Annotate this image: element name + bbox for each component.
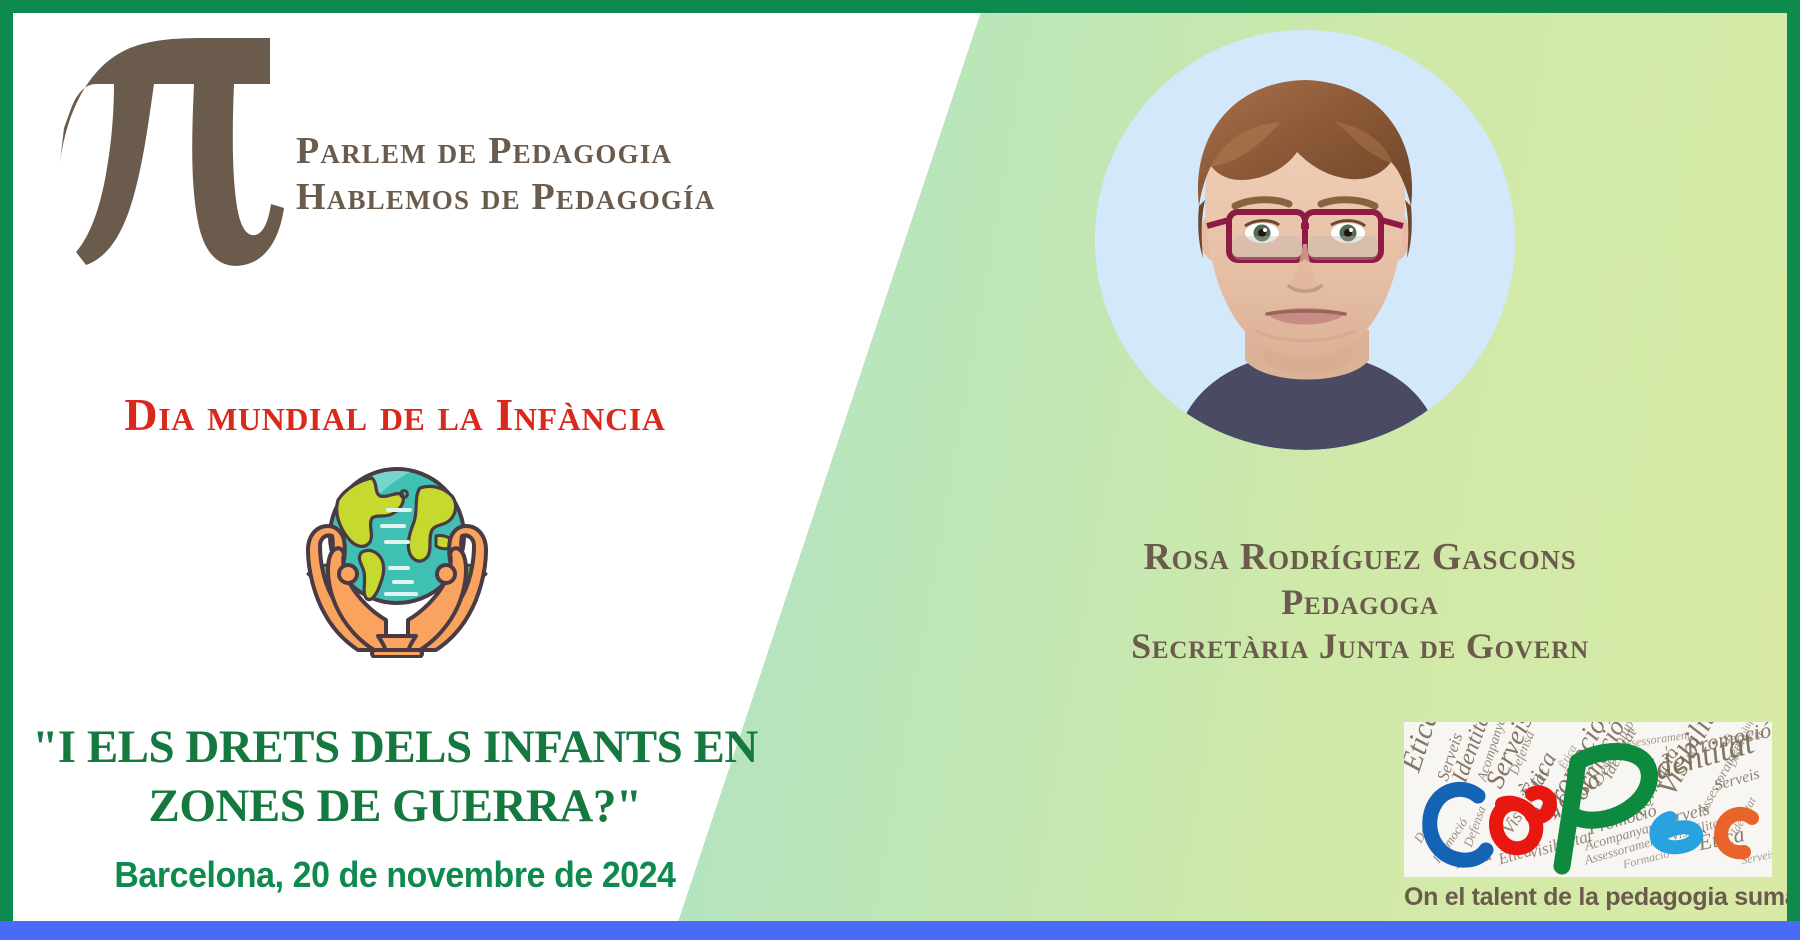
speaker-position: Secretària Junta de Govern: [1010, 625, 1710, 669]
talk-title-line-1: "I ELS DRETS DELS INFANTS EN: [0, 718, 790, 777]
event-poster: Parlem de Pedagogia Hablemos de Pedagogí…: [0, 0, 1800, 940]
speaker-name: Rosa Rodríguez Gascons: [1010, 535, 1710, 581]
brand-text-block: Parlem de Pedagogia Hablemos de Pedagogí…: [296, 128, 716, 221]
pi-symbol-icon: [56, 22, 286, 270]
brand-header: Parlem de Pedagogia Hablemos de Pedagogí…: [56, 22, 716, 270]
world-childrens-day-title: Dia mundial de la Infància: [0, 388, 790, 441]
talk-title: "I ELS DRETS DELS INFANTS EN ZONES DE GU…: [0, 718, 790, 836]
copec-wordcloud-logo: Ètica Serveis Identitat Acompanyament De…: [1404, 722, 1772, 877]
brand-line-catalan: Parlem de Pedagogia: [296, 128, 716, 174]
speaker-role: Pedagoga: [1010, 581, 1710, 625]
border-right: [1787, 0, 1800, 940]
left-content-column: Parlem de Pedagogia Hablemos de Pedagogí…: [0, 0, 860, 940]
border-top: [0, 0, 1800, 13]
copec-tagline: On el talent de la pedagogia suma!: [1404, 883, 1772, 912]
border-bottom: [0, 921, 1800, 940]
talk-title-line-2: ZONES DE GUERRA?": [0, 777, 790, 836]
brand-line-spanish: Hablemos de Pedagogía: [296, 174, 716, 220]
border-left: [0, 0, 13, 940]
hands-holding-globe-icon: [286, 458, 508, 658]
speaker-portrait-photo: [1095, 30, 1515, 450]
place-and-date: Barcelona, 20 de novembre de 2024: [24, 854, 767, 896]
copec-logo: Ètica Serveis Identitat Acompanyament De…: [1404, 722, 1772, 912]
speaker-details: Rosa Rodríguez Gascons Pedagoga Secretàr…: [1010, 535, 1710, 668]
